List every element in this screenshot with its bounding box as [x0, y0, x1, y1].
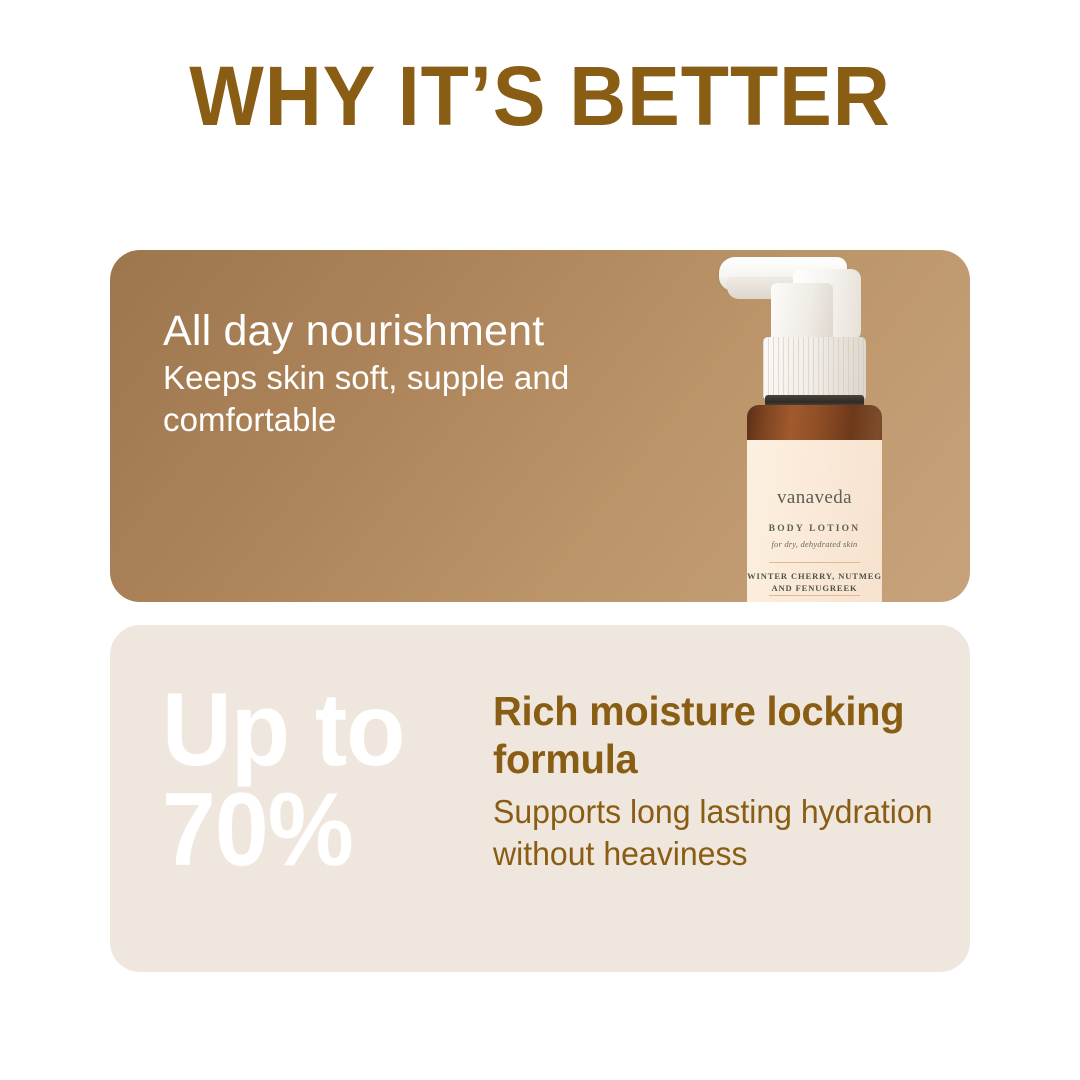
card-two-title: Rich moisture locking formula [493, 688, 949, 783]
card-one-text-block: All day nourishment Keeps skin soft, sup… [163, 307, 683, 441]
product-descriptor: for dry, dehydrated skin [747, 539, 882, 549]
label-divider-bottom [769, 595, 860, 596]
brand-name: vanaveda [747, 487, 882, 509]
pump-collar-icon [763, 337, 866, 399]
product-scent: WINTER CHERRY, NUTMEG AND FENUGREEK [747, 570, 882, 595]
stat-value: 70% [162, 781, 469, 881]
card-two-subtitle: Supports long lasting hydration without … [493, 791, 949, 875]
stat-prefix: Up to [162, 681, 469, 781]
benefit-card-all-day-nourishment: All day nourishment Keeps skin soft, sup… [110, 250, 970, 602]
benefit-card-rich-moisture-locking-formula: Up to 70% Rich moisture locking formula … [110, 625, 970, 972]
label-divider-top [769, 562, 860, 563]
pump-neck-icon [771, 283, 833, 343]
product-name: BODY LOTION [747, 524, 882, 534]
product-bottle-image: vanaveda BODY LOTION for dry, dehydrated… [705, 255, 970, 602]
bottle-label: vanaveda BODY LOTION for dry, dehydrated… [747, 440, 882, 602]
stat-figure: Up to 70% [162, 681, 469, 881]
infographic-page: WHY IT’S BETTER All day nourishment Keep… [0, 0, 1080, 1080]
card-two-text-block: Rich moisture locking formula Supports l… [493, 688, 963, 875]
page-title: WHY IT’S BETTER [32, 52, 1047, 140]
card-one-title: All day nourishment [163, 307, 683, 355]
card-one-subtitle: Keeps skin soft, supple and comfortable [163, 357, 683, 441]
